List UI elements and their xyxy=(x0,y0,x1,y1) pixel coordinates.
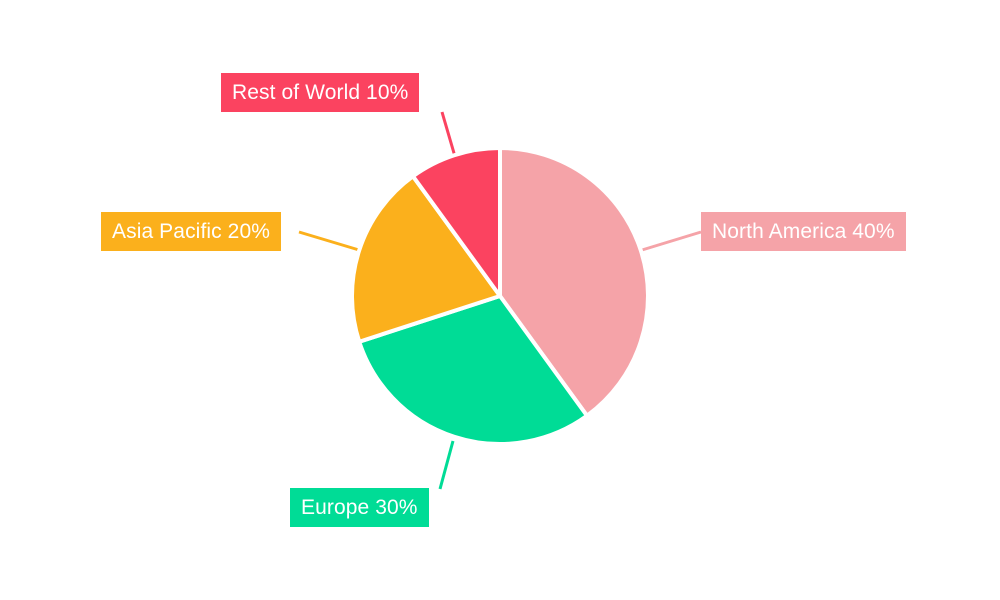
pie-label-asia-pacific[interactable]: Asia Pacific 20% xyxy=(101,212,281,251)
leader-line-north-america xyxy=(642,232,701,250)
leader-line-europe xyxy=(440,441,453,489)
pie-label-rest-of-world-text: Rest of World 10% xyxy=(232,73,408,112)
pie-chart-canvas xyxy=(0,0,1000,600)
pie-label-rest-of-world[interactable]: Rest of World 10% xyxy=(221,73,419,112)
pie-label-asia-pacific-text: Asia Pacific 20% xyxy=(112,212,270,251)
pie-slices-group xyxy=(352,148,648,444)
leader-line-asia-pacific xyxy=(299,232,359,250)
pie-label-europe-text: Europe 30% xyxy=(301,488,418,527)
pie-chart: North America 40% Europe 30% Asia Pacifi… xyxy=(0,0,1000,600)
pie-label-north-america-text: North America 40% xyxy=(712,212,895,251)
pie-label-north-america[interactable]: North America 40% xyxy=(701,212,906,251)
leader-line-rest-of-world xyxy=(442,112,456,160)
pie-label-europe[interactable]: Europe 30% xyxy=(290,488,429,527)
